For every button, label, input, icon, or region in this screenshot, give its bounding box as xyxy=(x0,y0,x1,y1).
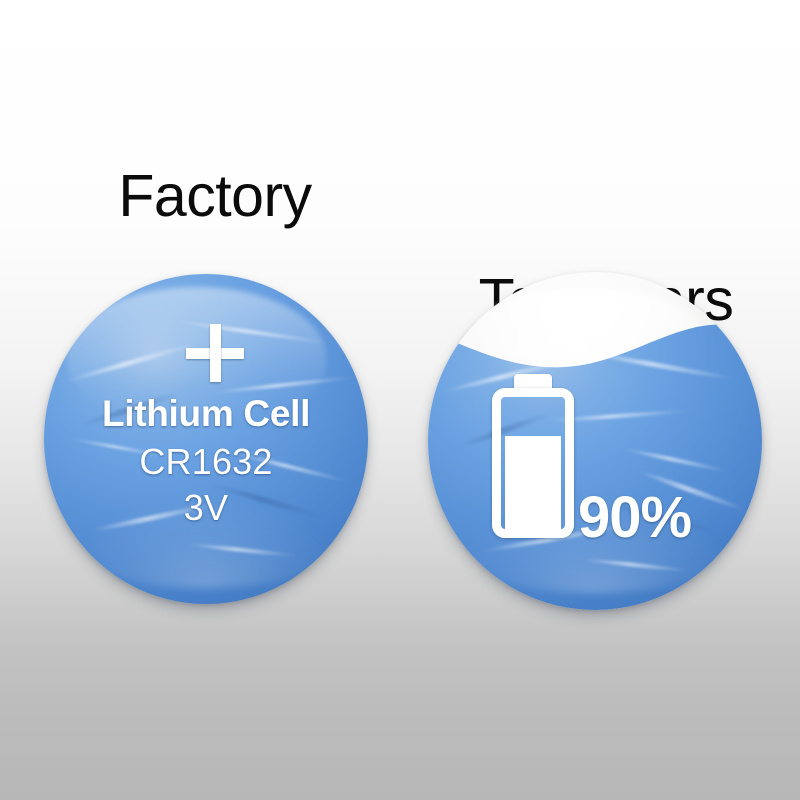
cell-chemistry-label: Lithium Cell xyxy=(44,393,368,435)
charge-percentage-label: 90% xyxy=(578,484,748,551)
plus-terminal-icon xyxy=(186,324,244,382)
cell-voltage-label: 3V xyxy=(44,487,368,529)
cell-model-label: CR1632 xyxy=(44,441,368,483)
coin-cell-aged xyxy=(428,272,762,610)
caption-factory: Factory xyxy=(0,166,430,226)
illustration-canvas: Factory Lithium Cell CR1632 3V Ten Years xyxy=(0,0,800,800)
battery-icon xyxy=(488,374,578,540)
plus-vertical-bar xyxy=(210,324,221,382)
coin-edge-shading xyxy=(428,272,762,610)
battery-cap xyxy=(514,374,552,389)
battery-charge-level xyxy=(505,436,561,531)
